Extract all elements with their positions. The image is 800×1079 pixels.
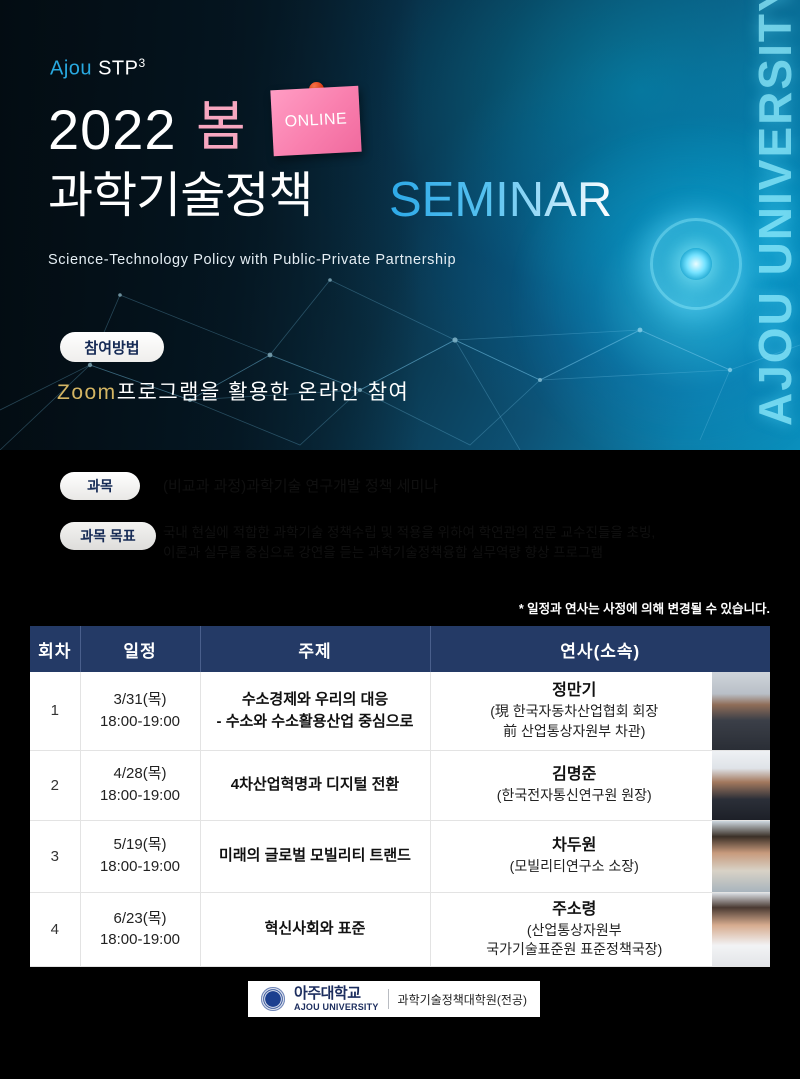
table-header-row: 회차 일정 주제 연사(소속) [30,626,770,672]
cell-session-no: 4 [30,892,80,967]
topic-line-1: 미래의 글로벌 모빌리티 트랜드 [209,845,422,867]
header-speaker: 연사(소속) [430,626,770,672]
time-value: 18:00-19:00 [81,856,200,878]
join-method-text: Zoom프로그램을 활용한 온라인 참여 [57,376,409,406]
speaker-affiliation-2: 국가기술표준원 표준정책국장) [439,940,711,960]
speaker-photo [712,893,770,967]
speaker-name: 주소령 [439,899,711,921]
topic-line-1: 4차산업혁명과 디지털 전환 [209,774,422,796]
speaker-affiliation-1: (한국전자통신연구원 원장) [439,786,711,806]
online-label: ONLINE [284,110,347,131]
speaker-photo [712,821,770,892]
date-value: 6/23(목) [81,908,200,930]
date-value: 4/28(목) [81,763,200,785]
speaker-photo [712,672,770,750]
cell-topic: 4차산업혁명과 디지털 전환 [200,750,430,820]
title-seminar: SEMINAR [389,176,612,225]
university-name-ko: 아주대학교 [294,986,379,1002]
date-value: 3/31(목) [81,689,200,711]
time-value: 18:00-19:00 [81,711,200,733]
cell-topic: 혁신사회와 표준 [200,892,430,967]
date-value: 5/19(목) [81,834,200,856]
title-main-korean: 과학기술정책 [48,172,312,221]
speaker-affiliation-1: (모빌리티연구소 소장) [439,857,711,877]
footer-logo-bar: 아주대학교 AJOU UNIVERSITY 과학기술정책대학원(전공) [248,981,540,1017]
cell-session-no: 2 [30,750,80,820]
join-method-rest: 프로그램을 활용한 온라인 참여 [117,381,410,404]
topic-line-2: - 수소와 수소활용산업 중심으로 [209,711,422,733]
time-value: 18:00-19:00 [81,929,200,951]
speaker-affiliation-1: (산업통상자원부 [439,921,711,941]
course-info-section: 과목 (비교과 과정)과학기술 연구개발 정책 세미나 과목 목표 국내 현실에… [0,450,800,600]
cell-session-no: 1 [30,672,80,750]
brand-ajou: Ajou [50,58,92,80]
cell-topic: 수소경제와 우리의 대응 - 수소와 수소활용산업 중심으로 [200,672,430,750]
brand-stp: STP [98,58,138,80]
zoom-keyword: Zoom [57,381,117,404]
goal-line-1: 국내 현실에 적합한 과학기술 정책수립 및 적용을 위하여 학연관의 전문 교… [163,523,655,543]
goal-text: 국내 현실에 적합한 과학기술 정책수립 및 적용을 위하여 학연관의 전문 교… [163,523,655,564]
cell-date: 6/23(목) 18:00-19:00 [80,892,200,967]
time-value: 18:00-19:00 [81,785,200,807]
table-row: 3 5/19(목) 18:00-19:00 미래의 글로벌 모빌리티 트랜드 차… [30,820,770,892]
speaker-affiliation-1: (現 한국자동차산업협회 회장 [439,702,711,722]
subject-text: (비교과 과정)과학기술 연구개발 정책 세미나 [163,475,438,496]
cell-session-no: 3 [30,820,80,892]
schedule-table: 회차 일정 주제 연사(소속) 1 3/31(목) 18:00-19:00 수소… [30,626,770,967]
goal-badge: 과목 목표 [60,522,156,550]
seminar-poster: AJOU UNIVERSITY Ajou STP3 2022 봄 ONLINE … [0,0,800,1079]
brand-stp-superscript: 3 [139,56,146,70]
cell-speaker: 김명준 (한국전자통신연구원 원장) [430,750,770,820]
title-season: 봄 [196,100,246,154]
speaker-photo [712,751,770,820]
online-sticky-note: ONLINE [270,86,361,157]
table-row: 1 3/31(목) 18:00-19:00 수소경제와 우리의 대응 - 수소와… [30,672,770,750]
goal-line-2: 이론과 실무를 중심으로 강연을 듣는 과학기술정책융합 실무역량 향상 프로그… [163,543,655,563]
speaker-affiliation-2: 前 산업통상자원부 차관) [439,722,711,742]
cell-date: 4/28(목) 18:00-19:00 [80,750,200,820]
cell-speaker: 주소령 (산업통상자원부 국가기술표준원 표준정책국장) [430,892,770,967]
topic-line-1: 수소경제와 우리의 대응 [209,689,422,711]
join-method-badge: 참여방법 [60,332,164,362]
speaker-name: 차두원 [439,835,711,857]
table-row: 2 4/28(목) 18:00-19:00 4차산업혁명과 디지털 전환 김명준… [30,750,770,820]
table-row: 4 6/23(목) 18:00-19:00 혁신사회와 표준 주소령 (산업통상… [30,892,770,967]
header-date: 일정 [80,626,200,672]
header-session-no: 회차 [30,626,80,672]
subject-badge: 과목 [60,472,140,500]
schedule-change-note: * 일정과 연사는 사정에 의해 변경될 수 있습니다. [519,598,770,617]
cell-speaker: 정만기 (現 한국자동차산업협회 회장 前 산업통상자원부 차관) [430,672,770,750]
footer-divider [388,989,389,1009]
ajou-seal-icon [261,987,285,1011]
cell-date: 5/19(목) 18:00-19:00 [80,820,200,892]
cell-topic: 미래의 글로벌 모빌리티 트랜드 [200,820,430,892]
header-topic: 주제 [200,626,430,672]
subtitle-english: Science-Technology Policy with Public-Pr… [48,252,456,268]
title-year: 2022 [48,102,177,158]
schedule-table-wrapper: 회차 일정 주제 연사(소속) 1 3/31(목) 18:00-19:00 수소… [30,626,770,967]
hero-banner: AJOU UNIVERSITY Ajou STP3 2022 봄 ONLINE … [0,0,800,450]
watermark-ajou-university: AJOU UNIVERSITY [752,0,798,426]
brand-logo: Ajou STP3 [50,56,146,81]
university-name-en: AJOU UNIVERSITY [294,1002,379,1012]
cell-date: 3/31(목) 18:00-19:00 [80,672,200,750]
topic-line-1: 혁신사회와 표준 [209,918,422,940]
footer-university-block: 아주대학교 AJOU UNIVERSITY [294,986,379,1012]
cell-speaker: 차두원 (모빌리티연구소 소장) [430,820,770,892]
speaker-name: 김명준 [439,764,711,786]
speaker-name: 정만기 [439,680,711,702]
department-name: 과학기술정책대학원(전공) [398,991,527,1008]
